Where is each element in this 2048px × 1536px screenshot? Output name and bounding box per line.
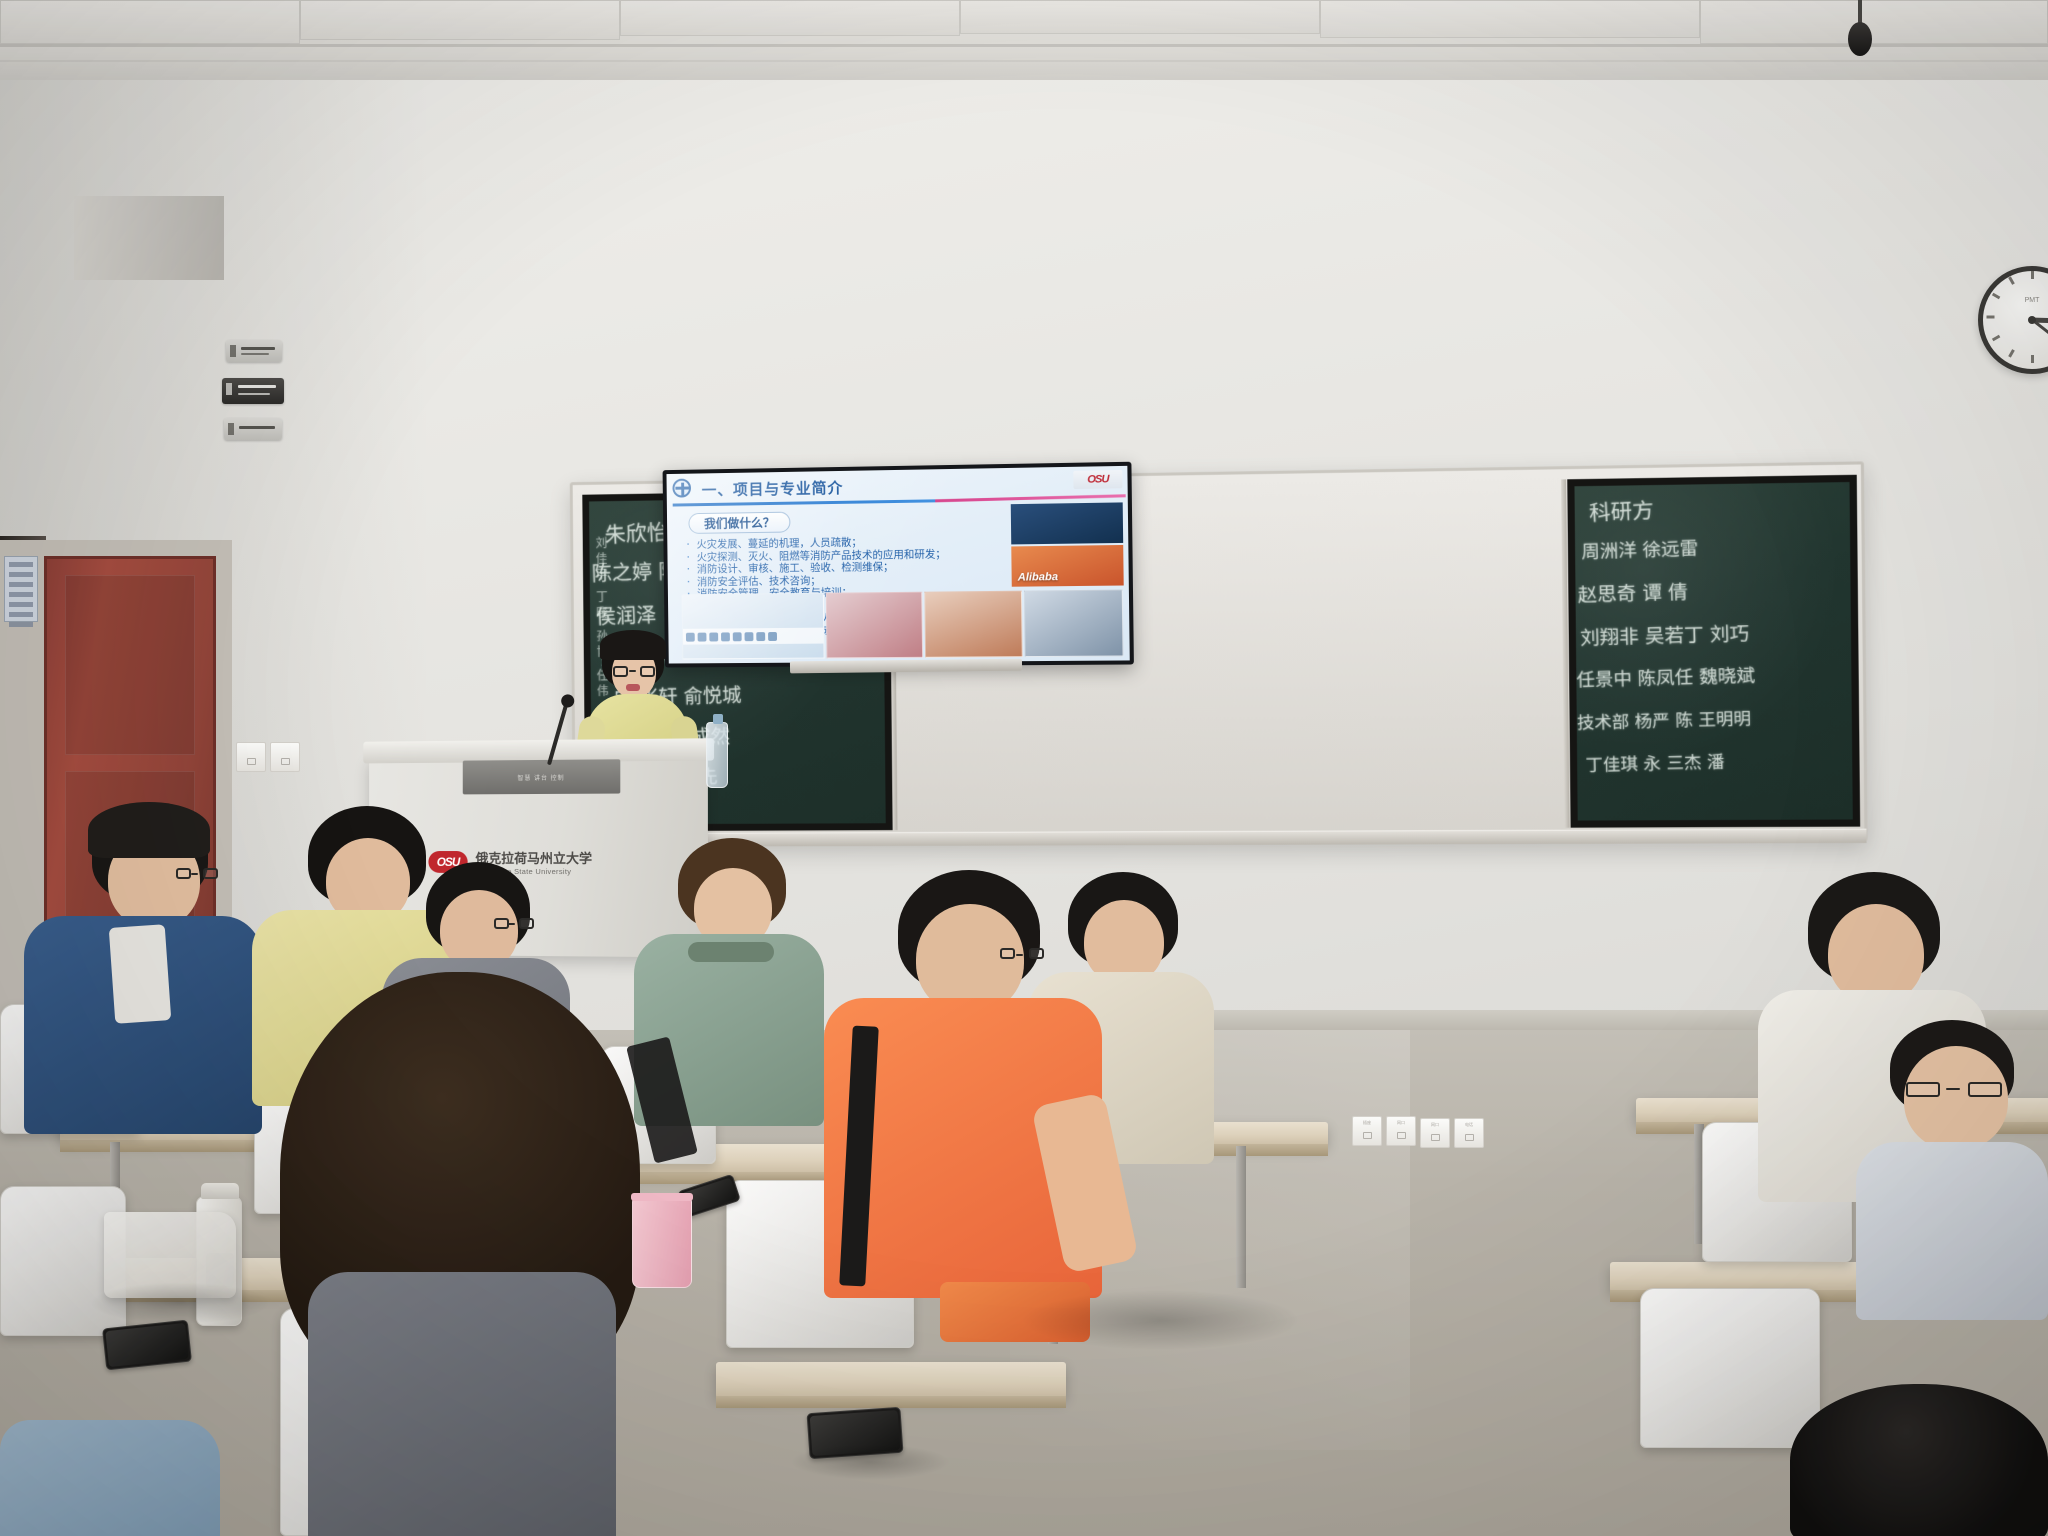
pen-icon (698, 632, 707, 641)
wall-outlet[interactable] (270, 742, 300, 772)
alibaba-warehouse-photo: Alibaba (1011, 545, 1123, 587)
clock-brand-label: PMT (1983, 297, 2048, 304)
shadow (90, 1282, 270, 1324)
smartphone-front-desk[interactable] (102, 1320, 192, 1371)
torso (308, 1272, 616, 1536)
collar (688, 942, 774, 962)
slide-right-images: Alibaba (1011, 502, 1124, 586)
lectern-base (74, 196, 224, 280)
blackboard-right-panel: 科研方 周洲洋 徐远雷 赵思奇 谭 倩 刘翔非 吴若丁 刘巧 任景中 陈凤任 魏… (1567, 475, 1860, 828)
glasses (1000, 948, 1042, 963)
slide-section-number: 一、 (702, 482, 733, 499)
door-notice-sign (4, 556, 38, 622)
chalk-line: 科研方 (1588, 494, 1654, 528)
student-bottom-left (0, 1400, 220, 1536)
plan-review-photo (682, 593, 825, 660)
hair-front (88, 802, 210, 858)
ceiling-rail (0, 60, 2048, 62)
head (1904, 1046, 2008, 1150)
student-bottom-right (1790, 1384, 2048, 1536)
ceiling-panel (960, 0, 1320, 34)
slide-surface: 一、项目与专业简介 OSU 我们做什么？ 火灾发展、蔓延的机理，人员疏散； 火灾… (666, 466, 1129, 664)
slide-corner-logo: OSU (1073, 470, 1122, 489)
chalk-line: 任景中 陈凤任 魏晓斌 (1576, 661, 1755, 692)
fire-drill-photo (1011, 502, 1123, 544)
desk (716, 1362, 1066, 1398)
duct-icon (745, 632, 754, 641)
column-icon (721, 632, 730, 641)
wall-icon (733, 632, 742, 641)
wall-outlet[interactable] (236, 742, 266, 772)
slide-title: 一、项目与专业简介 (702, 477, 844, 500)
screen-bezel: 一、项目与专业简介 OSU 我们做什么？ 火灾发展、蔓延的机理，人员疏散； 火灾… (663, 462, 1134, 668)
chalk-line: 技术部 杨严 陈 王明明 (1576, 704, 1751, 734)
shadow (790, 1444, 950, 1480)
head (1828, 904, 1924, 1004)
desk-leg (1236, 1146, 1246, 1288)
lectern-control-plate[interactable]: 智慧 讲台 控制 (463, 759, 621, 794)
clock-center (2028, 316, 2036, 324)
torso (1856, 1142, 2048, 1320)
student-right-glasses (1856, 1020, 2048, 1320)
glasses (176, 868, 216, 882)
measure-icon (768, 632, 777, 641)
shield-cross-logo-icon (672, 479, 691, 498)
hair (1790, 1384, 2048, 1536)
wall-outlet[interactable]: 网口 (1420, 1118, 1450, 1148)
sprinkler-icon (756, 632, 765, 641)
ceiling-rail (0, 44, 2048, 47)
shadow (1020, 1290, 1300, 1350)
wall-outlet[interactable]: 插座 (1352, 1116, 1382, 1146)
slide-title-text: 项目与专业简介 (733, 480, 844, 499)
ceiling-panel (300, 0, 620, 40)
torso (0, 1420, 220, 1536)
ceiling-panel (620, 0, 960, 36)
classroom-scene: PMT 朱欣怡 常清源 白羽 陈之婷 陈子思怡 秦玉晟 侯润泽 习睿 高晨曦 罗… (0, 0, 2048, 1536)
slide-question-chip: 我们做什么？ (688, 512, 790, 534)
slide-toolbar-icons (683, 628, 823, 645)
fire-drill-photo (924, 591, 1023, 658)
ceiling-panel (1700, 0, 2048, 44)
chalk-line: 刘翔非 吴若丁 刘巧 (1580, 619, 1750, 651)
pipe-install-photo (825, 592, 922, 659)
glasses (613, 666, 655, 678)
chalk-line: 丁佳琪 永 三杰 潘 (1585, 748, 1725, 777)
hair-front (600, 630, 666, 660)
wall-outlet[interactable]: 网口 (1386, 1116, 1416, 1146)
glasses (494, 918, 532, 931)
chalk-line: 周洲洋 徐远雷 (1581, 534, 1699, 564)
water-bottle-on-lectern (706, 722, 728, 788)
cable-tray-photo (1024, 590, 1124, 658)
mouth (626, 684, 640, 691)
ruler-icon (709, 632, 718, 641)
ceiling-panel (0, 0, 300, 44)
projection-screen: 一、项目与专业简介 OSU 我们做什么？ 火灾发展、蔓延的机理，人员疏散； 火灾… (660, 466, 1130, 666)
ceiling-sensor-icon (1848, 0, 1872, 58)
ceiling-panel (1320, 0, 1700, 38)
glasses (1906, 1082, 2002, 1098)
student-front-left-blue (24, 806, 274, 1136)
wall-outlet[interactable]: 电话 (1454, 1118, 1484, 1148)
sign-emergency-exit (226, 340, 282, 362)
sign-keep-door-closed (224, 418, 282, 440)
slide-image-strip (682, 590, 1124, 660)
sign-no-smoking (222, 378, 284, 404)
lanyard (109, 924, 172, 1024)
student-curly-hair-front (280, 972, 640, 1536)
chalk-line: 赵思奇 谭 倩 (1577, 577, 1688, 608)
pink-tumbler[interactable] (632, 1198, 692, 1288)
